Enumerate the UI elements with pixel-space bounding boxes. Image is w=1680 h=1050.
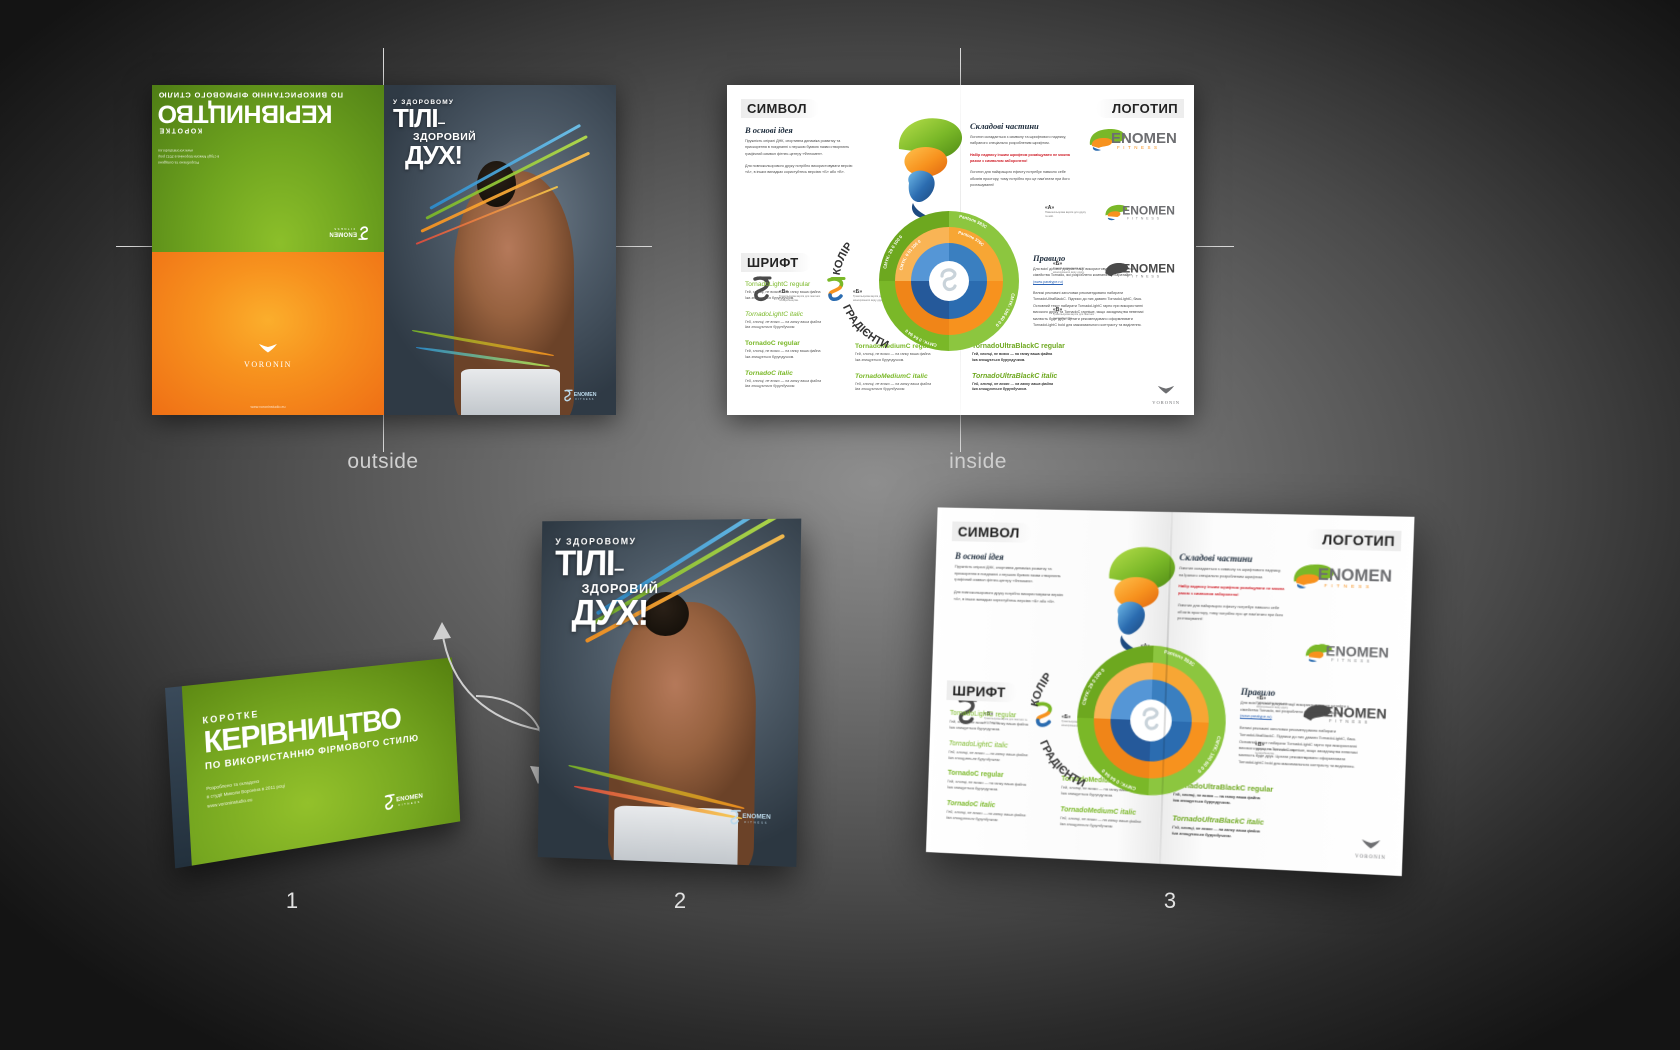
symbol-copy: В основі ідея Пружність спіралі ДНК, спо… [745,125,857,176]
symbol-paragraph-1: Пружність спіралі ДНК, спортивна динамік… [745,138,857,157]
mockup-open-cover[interactable]: У ЗДОРОВОМУ ТІЛІ– ЗДОРОВИЙ ДУХ! ENOMEN F… [538,519,802,867]
rule-paragraph-2: Великі рекламні заголовки рекомендовано … [1033,290,1151,328]
rule-subhead: Правило [1033,253,1151,263]
symbol-subhead: В основі ідея [745,125,857,135]
type-specimen: TornadoMediumC italic Гей, хлопці, не вс… [855,373,959,394]
svg-text:Pantone 376C: Pantone 376C [958,230,985,247]
logo-full-colour: ENOMEN FITNESS [1082,121,1182,156]
svg-text:FITNESS: FITNESS [1117,145,1161,150]
components-paragraph-1: Логотип складається з символу та шрифтов… [970,134,1076,147]
svg-text:КОЛІР: КОЛІР [833,240,855,276]
front-cover-line1-wrap: ТІЛІ– [393,106,476,131]
ring-cmyk-5: CMYK: 100 60 0 0 [1196,735,1222,775]
label-number-1: 1 [262,888,322,914]
specimen-pangram-2: їжа знищується бурундучком. [972,358,1092,364]
mock3-rule-p1-wrap: Для всієї ділової документації використо… [1240,700,1363,725]
back-cover-credit: Розроблено та складено в студії Миколи В… [158,147,219,165]
outside-spread[interactable]: ENOMEN FITNESS Розроблено та складено в … [152,85,616,415]
section-header-font: ШРИФТ [741,253,811,272]
type-column-3: TornadoUltraBlackC regular Гей, хлопці, … [972,343,1092,402]
fenomen-logo-back: ENOMEN FITNESS [318,221,370,241]
fenomen-logo-colour-icon: ENOMEN FITNESS [1285,555,1399,591]
rule-paragraph-1-wrap: Для всієї ділової документації використо… [1033,266,1151,285]
mockup-closed-brochure[interactable]: КОРОТКЕ КЕРІВНИЦТВО ПО ВИКОРИСТАННЮ ФІРМ… [165,657,460,868]
voronin-logo-back: VORONIN [244,341,292,369]
mock3-wheel-colour-text: КОЛІР [1030,670,1055,708]
front-cover: У ЗДОРОВОМУ ТІЛІ– ЗДОРОВИЙ ДУХ! ENOMEN F… [384,85,616,415]
crop-mark-left [116,246,154,247]
ring-cmyk-0: CMYK: 29 0 100 0 [1081,667,1106,707]
specimen-pangram-2: їжа знищується бурундучком. [745,384,849,390]
back-cover-url: www.voroninstudio.eu [251,405,286,409]
type-specimen: TornadoUltraBlackC italic Гей, хлопці, н… [972,373,1092,394]
back-cover-kicker: КОРОТКЕ [158,127,384,134]
specimen-name: TornadoUltraBlackC italic [972,373,1092,380]
mock3-ring-labels: Pantone 383C CMYK: 29 0 100 0 CMYK: 0 64… [1075,643,1229,798]
type-specimen: TornadoUltraBlackC italic Гей, хлопці, н… [1172,813,1299,843]
logo-mark-label-a2: «А» Повнокольорова версія для друку та w… [1045,205,1087,219]
svg-text:CMYK: 29 0 100 0: CMYK: 29 0 100 0 [1081,667,1106,707]
mock1-copy: КОРОТКЕ КЕРІВНИЦТВО ПО ВИКОРИСТАННЮ ФІРМ… [202,690,421,810]
svg-text:Pantone 383C: Pantone 383C [959,214,989,230]
svg-text:FITNESS: FITNESS [744,820,768,825]
ring-cmyk-3: CMYK: 0 64 94 0 [1100,767,1137,791]
mock2-dash: – [614,559,623,580]
type-specimen: TornadoC italic Гей, хлопці, не всяко — … [745,370,849,391]
crop-mark-bottom-right [960,414,961,452]
rule-link[interactable]: (www.paratype.ru) [1033,280,1063,284]
svg-text:ENOMEN: ENOMEN [1317,566,1392,586]
voronin-wordmark-inside: VORONIN [1152,400,1180,405]
back-cover-orange-panel [152,252,384,415]
label-number-3: 3 [1140,888,1200,914]
crop-mark-top-left [383,48,384,86]
fenomen-logo-front: ENOMEN FITNESS [562,389,608,407]
svg-text:CMYK: 0 51 100 0: CMYK: 0 51 100 0 [898,238,922,270]
back-cover-subtitle: ПО ВИКОРИСТАННЮ ФІРМОВОГО СТИЛЮ [158,91,384,100]
components-copy: Складові частини Логотип складається з с… [970,121,1076,189]
svg-text:FITNESS: FITNESS [333,227,355,231]
ring-name-0: Pantone 383C [959,214,989,230]
symbol-paragraph-2: Для повнокольорового друку потрібно вико… [745,163,857,176]
fenomen-wordmark-icon: ENOMEN FITNESS [562,389,608,402]
crop-mark-right [1196,246,1234,247]
presentation-canvas: ENOMEN FITNESS Розроблено та складено в … [0,0,1680,1050]
svg-text:CMYK: 100 60 0 0: CMYK: 100 60 0 0 [994,293,1016,328]
type-specimen: TornadoC italic Гей, хлопці, не всяко — … [946,800,1053,826]
mock3-header-font: ШРИФТ [946,680,1017,702]
fenomen-wordmark-icon: ENOMEN FITNESS [382,787,436,812]
front-cover-line3: ДУХ! [405,143,476,168]
type-specimen: TornadoMediumC italic Гей, хлопці, не вс… [1060,806,1167,832]
label-number-2: 2 [650,888,710,914]
svg-text:CMYK: 100 60 0 0: CMYK: 100 60 0 0 [1196,735,1222,775]
components-subhead: Складові частини [970,121,1076,131]
credit-line-1: Розроблено та складено [158,159,219,165]
mock2-line3: ДУХ! [571,596,658,631]
svg-text:FITNESS: FITNESS [1331,657,1373,663]
specimen-pangram-2: їжа знищується бурундучком. [855,387,959,393]
logo-duotone: ENOMEN FITNESS [1096,197,1182,226]
svg-text:ENOMEN: ENOMEN [574,392,597,398]
svg-text:ENOMEN: ENOMEN [1111,130,1177,147]
components-warning: Набір надпису іншим шрифтом розміщувати … [970,152,1076,165]
mock2-title-block: У ЗДОРОВОМУ ТІЛІ– ЗДОРОВИЙ ДУХ! [554,536,659,630]
mockup-open-spread[interactable]: СИМВОЛ В основі ідея Пружність спіралі Д… [926,507,1415,876]
rule-paragraph-1: Для всієї ділової документації використо… [1033,267,1134,277]
mock3-components-warning: Набір надпису іншим шрифтом розміщувати … [1178,584,1289,600]
svg-text:CMYK: 0 64 94 0: CMYK: 0 64 94 0 [1100,767,1137,791]
back-cover-title-block: КОРОТКЕ КЕРІВНИЦТВО ПО ВИКОРИСТАННЮ ФІРМ… [158,91,384,134]
fenomen-logo-mock2: ENOMEN FITNESS [728,809,785,832]
mock3-voronin-logo: VORONIN [1355,836,1387,861]
voronin-logo-inside: VORONIN [1152,382,1180,405]
voronin-bird-icon [1156,384,1176,395]
caption-inside: inside [908,450,1048,474]
section-header-logo: ЛОГОТИП [1096,99,1184,118]
svg-text:ENOMEN: ENOMEN [329,231,357,237]
back-cover: ENOMEN FITNESS Розроблено та складено в … [152,85,384,415]
athlete-shorts [461,369,561,415]
svg-text:ENOMEN: ENOMEN [1122,204,1175,218]
specimen-name: TornadoC italic [745,370,849,377]
mock3-symbol-p1: Пружність спіралі ДНК, спортивна динамік… [954,564,1067,587]
wheel-ring-labels: Pantone 383C CMYK: 29 0 100 0 Pantone 37… [879,211,1019,351]
mock3-rule-copy: Правило Для всієї ділової документації в… [1238,687,1363,771]
mock3-components-p1: Логотип складається з символу та шрифтов… [1179,565,1290,581]
specimen-pangram-2: їжа знищується бурундучком. [972,387,1092,393]
crop-mark-top-right [960,48,961,86]
mock3-logo-duotone: ENOMEN FITNESS [1296,634,1395,671]
colour-wheel: КОЛІР ГРАДІЄНТИ Pantone 383C [879,211,1019,351]
fenomen-logo-colour-icon: ENOMEN FITNESS [1082,121,1182,151]
back-cover-flipped-content: ENOMEN FITNESS Розроблено та складено в … [152,85,384,252]
wheel-label-colour-text: КОЛІР [833,240,855,276]
mock3-rule-link[interactable]: (www.paratype.ru) [1240,713,1272,719]
crop-mark-mid-right [614,246,652,247]
ring-cmyk-2: CMYK: 0 51 100 0 [898,238,922,270]
mock3-logo-colour: ENOMEN FITNESS [1285,555,1399,596]
ring-cmyk-5: CMYK: 100 60 0 0 [994,293,1016,328]
svg-text:КОЛІР: КОЛІР [1030,670,1055,708]
fenomen-wordmark-icon: ENOMEN FITNESS [318,226,370,241]
credit-line-2: в студії Миколи Вороніна в 2011 році [158,153,219,159]
mock3-header-logo: ЛОГОТИП [1306,529,1402,551]
rule-copy: Правило Для всієї ділової документації в… [1033,253,1151,328]
mock3-header-symbol: СИМВОЛ [952,521,1032,542]
back-cover-title: КЕРІВНИЦТВО [158,101,384,126]
inside-spread[interactable]: СИМВОЛ В основі ідея Пружність спіралі Д… [727,85,1194,415]
components-paragraph-2: Логотип для найкращого ефекту потребує н… [970,169,1076,188]
specimen-name: TornadoMediumC italic [855,373,959,380]
mock3-components-subhead: Складові частини [1179,552,1290,565]
brochure-spine [165,686,192,868]
front-cover-line1: ТІЛІ [393,103,438,133]
fenomen-logo-duotone-icon: ENOMEN FITNESS [1296,634,1395,666]
mock2-line1: ТІЛІ [555,542,615,583]
crop-mark-bottom-left [383,414,384,452]
mock3-symbol-subhead: В основі ідея [955,551,1067,564]
section-header-symbol: СИМВОЛ [741,99,819,118]
voronin-bird-icon [257,342,279,354]
logo-note-a2: Повнокольорова версія для друку та web. [1045,211,1087,219]
ring-cmyk-3: CMYK: 0 64 94 0 [904,328,938,348]
svg-text:CMYK: 0 64 94 0: CMYK: 0 64 94 0 [904,328,938,348]
front-cover-title-block: У ЗДОРОВОМУ ТІЛІ– ЗДОРОВИЙ ДУХ! [393,99,476,167]
fenomen-wordmark-icon: ENOMEN FITNESS [728,809,785,827]
ring-name-1: Pantone 376C [958,230,985,247]
mock3-components-copy: Складові частини Логотип складається з с… [1177,552,1290,625]
voronin-bird-icon [1359,837,1382,850]
mock2-line1-wrap: ТІЛІ– [555,546,659,581]
fenomen-logo-duotone-icon: ENOMEN FITNESS [1096,197,1182,221]
caption-outside: outside [313,450,453,474]
mock3-symbol-copy: В основі ідея Пружність спіралі ДНК, спо… [954,551,1068,606]
mock3-colour-wheel: КОЛІР ГРАДІЄНТИ Pantone 383C CMYK: 29 0 … [1075,643,1229,798]
voronin-wordmark: VORONIN [244,360,292,369]
svg-text:FITNESS: FITNESS [575,398,594,401]
mock3-rule-p2: Великі рекламні заголовки рекомендовано … [1238,725,1361,771]
front-cover-dash: – [438,114,445,130]
svg-text:FITNESS: FITNESS [1127,216,1162,220]
mock3-components-p2: Логотип для найкращого ефекту потребує н… [1177,602,1288,625]
fenomen-logo-mock1: ENOMEN FITNESS [382,787,437,817]
